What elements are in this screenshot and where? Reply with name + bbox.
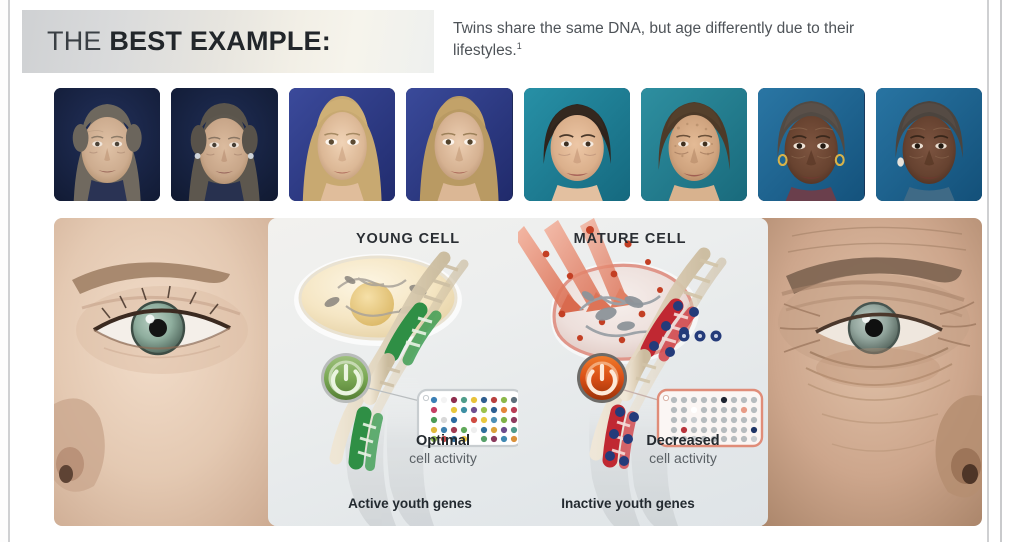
young-cell-title: YOUNG CELL xyxy=(308,231,508,247)
mature-activity-sub: cell activity xyxy=(608,450,758,468)
header-subtext: Twins share the same DNA, but age differ… xyxy=(453,18,913,63)
aged-eye-photo xyxy=(762,218,982,526)
methyl-markers xyxy=(679,331,722,342)
footnote-marker: 1 xyxy=(517,41,522,51)
twin-photo-1b xyxy=(171,88,277,201)
page-title: THE BEST EXAMPLE: xyxy=(47,26,331,57)
lower-composite-panel: YOUNG CELL MATURE CELL Optimal cell acti… xyxy=(54,218,982,526)
twins-photo-strip xyxy=(54,88,982,201)
header-banner: THE BEST EXAMPLE: xyxy=(22,10,434,73)
twin-photo-2a xyxy=(289,88,395,201)
twin-photo-3b xyxy=(641,88,747,201)
mature-activity-main: Decreased xyxy=(608,432,758,450)
twin-photo-1a xyxy=(54,88,160,201)
young-cell-illustration xyxy=(268,218,518,526)
young-cell-activity-label: Optimal cell activity xyxy=(368,432,518,468)
cell-diagram-card: YOUNG CELL MATURE CELL Optimal cell acti… xyxy=(268,218,768,526)
inactive-youth-genes-label: Inactive youth genes xyxy=(518,496,738,511)
left-gutter xyxy=(0,0,8,542)
page-title-bold: BEST EXAMPLE: xyxy=(109,26,331,56)
young-activity-main: Optimal xyxy=(368,432,518,450)
twin-photo-4b xyxy=(876,88,982,201)
mature-cell-title: MATURE CELL xyxy=(530,231,730,247)
power-off-icon xyxy=(577,353,627,403)
page-title-thin: THE xyxy=(47,26,109,56)
active-youth-genes-label: Active youth genes xyxy=(300,496,520,511)
right-scroll-gutter[interactable] xyxy=(1000,0,1024,542)
page-sheet: THE BEST EXAMPLE: Twins share the same D… xyxy=(8,0,989,542)
young-activity-sub: cell activity xyxy=(368,450,518,468)
mature-cell-activity-label: Decreased cell activity xyxy=(608,432,758,468)
page-frame: THE BEST EXAMPLE: Twins share the same D… xyxy=(0,0,1024,542)
twin-photo-4a xyxy=(758,88,864,201)
power-on-icon xyxy=(321,353,371,403)
mature-cell-illustration xyxy=(518,218,768,526)
twin-photo-2b xyxy=(406,88,512,201)
young-eye-photo xyxy=(54,218,274,526)
twin-photo-3a xyxy=(524,88,630,201)
header-subtext-body: Twins share the same DNA, but age differ… xyxy=(453,20,854,59)
